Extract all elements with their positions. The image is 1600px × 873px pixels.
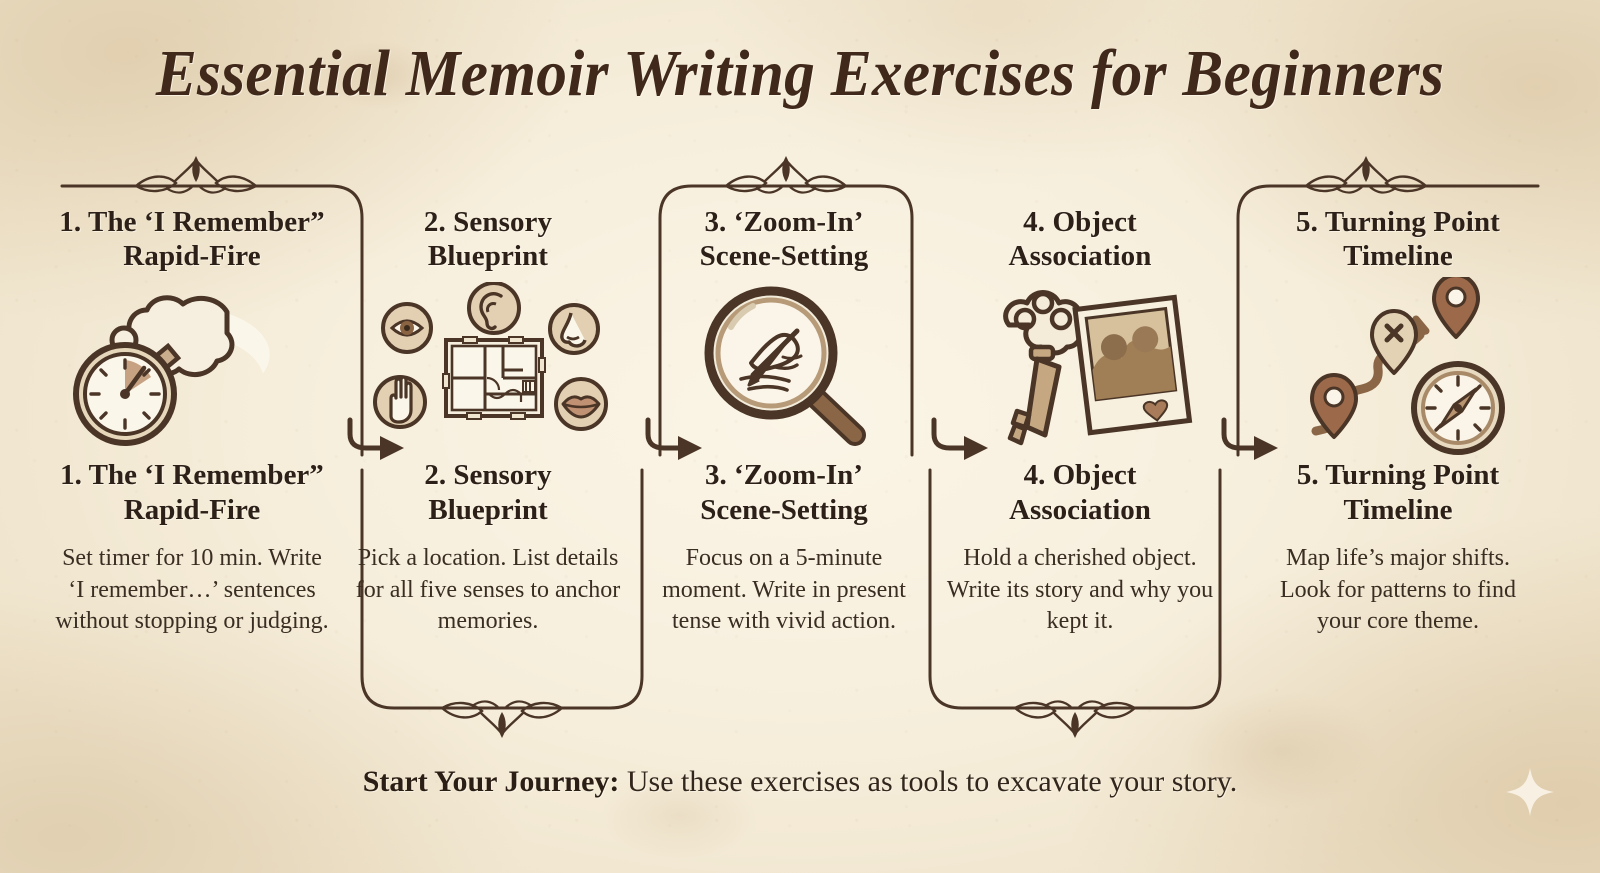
antique-key — [1006, 293, 1081, 444]
step-3-bottom-heading-line-2: Scene-Setting — [634, 493, 934, 527]
step-3-bottom-heading: 3. ‘Zoom-In’ Scene-Setting — [634, 458, 934, 526]
magnifier-handle — [815, 397, 855, 435]
step-4-top-heading-line-1: 4. Object — [930, 205, 1230, 239]
map-pin-destination — [1434, 277, 1478, 337]
sense-eye-icon — [383, 304, 431, 352]
step-1-body-text: Set timer for 10 min. Write ‘I remember…… — [42, 543, 342, 638]
infographic-poster: Essential Memoir Writing Exercises for B… — [0, 0, 1600, 873]
step-1-bottom-heading-line-1: 1. The ‘I Remember” — [42, 458, 342, 492]
step-1-top-heading-line-1: 1. The ‘I Remember” — [42, 205, 342, 239]
step-3-top-heading-line-1: 3. ‘Zoom-In’ — [634, 205, 934, 239]
step-3-body-text: Focus on a 5-minute moment. Write in pre… — [634, 543, 934, 638]
step-5-top-heading-line-1: 5. Turning Point — [1248, 205, 1548, 239]
key-polaroid-photo-icon — [965, 279, 1195, 454]
footer-callout: Start Your Journey: Use these exercises … — [0, 765, 1600, 799]
step-2-bottom-heading-line-2: Blueprint — [338, 493, 638, 527]
step-2-bottom-heading-line-1: 2. Sensory — [338, 458, 638, 492]
step-1-bottom-heading-line-2: Rapid-Fire — [42, 493, 342, 527]
sparkle-icon — [1504, 766, 1556, 818]
step-5-icon-slot — [1248, 279, 1548, 454]
step-4-bottom-heading-line-2: Association — [930, 493, 1230, 527]
step-4-bottom-heading: 4. Object Association — [930, 458, 1230, 526]
step-2-top-heading-line-1: 2. Sensory — [338, 205, 638, 239]
step-5-top-heading-line-2: Timeline — [1248, 239, 1548, 273]
step-3-bottom-heading-line-1: 3. ‘Zoom-In’ — [634, 458, 934, 492]
step-4-top-heading: 4. Object Association — [930, 205, 1230, 273]
step-5-top-heading: 5. Turning Point Timeline — [1248, 205, 1548, 273]
five-senses-floorplan-icon — [363, 282, 613, 452]
sense-taste-lips-icon — [556, 379, 606, 429]
step-1-top-heading-line-2: Rapid-Fire — [42, 239, 342, 273]
sense-ear-icon — [469, 283, 519, 333]
compass-icon — [1414, 364, 1502, 452]
step-column-4: 4. Object Association — [930, 205, 1230, 638]
step-4-body-text: Hold a cherished object. Write its story… — [930, 543, 1230, 638]
step-3-icon-slot — [634, 279, 934, 454]
stopwatch-thought-cloud-icon — [72, 282, 312, 452]
step-2-icon-slot — [338, 279, 638, 454]
step-column-2: 2. Sensory Blueprint — [338, 205, 638, 638]
step-5-body-text: Map life’s major shifts. Look for patter… — [1248, 543, 1548, 638]
sense-touch-hand-icon — [375, 377, 425, 427]
step-5-bottom-heading: 5. Turning Point Timeline — [1248, 458, 1548, 526]
step-column-3: 3. ‘Zoom-In’ Scene-Setting — [634, 205, 934, 638]
step-2-top-heading: 2. Sensory Blueprint — [338, 205, 638, 273]
footer-lead-label: Start Your Journey: — [363, 765, 620, 798]
step-2-body-text: Pick a location. List details for all fi… — [338, 543, 638, 638]
map-pins-path-compass-icon — [1278, 277, 1518, 457]
magnifier-writing-hand-icon — [679, 279, 889, 454]
step-4-icon-slot — [930, 279, 1230, 454]
step-1-top-heading: 1. The ‘I Remember” Rapid-Fire — [42, 205, 342, 273]
step-4-top-heading-line-2: Association — [930, 239, 1230, 273]
step-5-bottom-heading-line-1: 5. Turning Point — [1248, 458, 1548, 492]
step-2-bottom-heading: 2. Sensory Blueprint — [338, 458, 638, 526]
sense-nose-icon — [550, 305, 598, 353]
step-5-bottom-heading-line-2: Timeline — [1248, 493, 1548, 527]
step-3-top-heading: 3. ‘Zoom-In’ Scene-Setting — [634, 205, 934, 273]
step-1-icon-slot — [42, 279, 342, 454]
step-1-bottom-heading: 1. The ‘I Remember” Rapid-Fire — [42, 458, 342, 526]
step-column-5: 5. Turning Point Timeline — [1248, 205, 1548, 638]
step-4-bottom-heading-line-1: 4. Object — [930, 458, 1230, 492]
polaroid-photo — [1075, 298, 1189, 433]
footer-text: Use these exercises as tools to excavate… — [619, 765, 1237, 798]
step-2-top-heading-line-2: Blueprint — [338, 239, 638, 273]
step-column-1: 1. The ‘I Remember” Rapid-Fire — [42, 205, 342, 638]
floorplan-blueprint — [443, 337, 545, 419]
step-3-top-heading-line-2: Scene-Setting — [634, 239, 934, 273]
